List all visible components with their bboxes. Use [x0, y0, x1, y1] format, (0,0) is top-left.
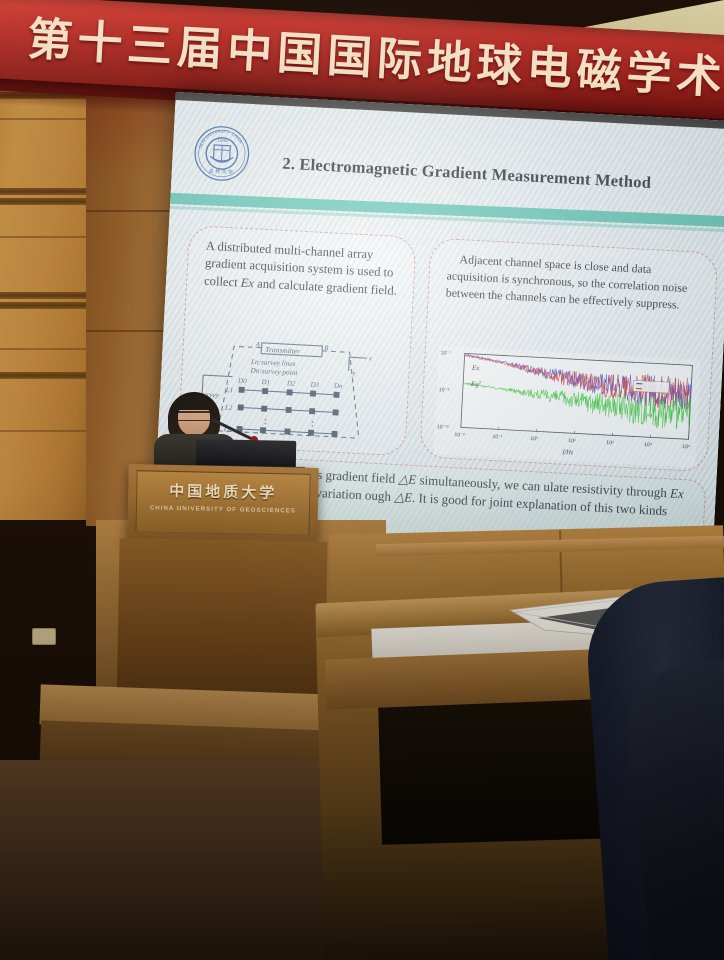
- jilin-university-logo-icon: 1946 吉 林 大 学 JILIN UNIVERSITY·CHINA: [191, 123, 252, 184]
- bot-l3-de: △E: [394, 489, 413, 505]
- chart-xtick: 10⁻¹: [492, 434, 503, 441]
- svg-text:B: B: [324, 345, 329, 352]
- bot-l1-de: △E: [398, 471, 417, 487]
- chart-xtick: 10²: [606, 440, 614, 446]
- chart-legend-box: [633, 380, 670, 393]
- left-callout-text: A distributed multi-channel array gradie…: [204, 238, 402, 300]
- chart-ytick: 10⁻⁷: [441, 350, 452, 357]
- glasses-icon: [178, 411, 210, 421]
- podium: 中国地质大学 CHINA UNIVERSITY OF GEOSCIENCES: [127, 464, 319, 546]
- chart-xtick: 10⁻²: [454, 432, 465, 439]
- slide-title: 2. Electromagnetic Gradient Measurement …: [282, 154, 702, 196]
- svg-text:D0: D0: [237, 378, 247, 386]
- svg-text:x: x: [368, 355, 372, 362]
- svg-text:Dn:survey point: Dn:survey point: [249, 367, 298, 378]
- svg-text:y: y: [351, 370, 356, 377]
- svg-text:D3: D3: [309, 382, 319, 390]
- chart-annot-ex: Ex: [471, 364, 481, 372]
- conference-photo: 第十三届中国国际地球电磁学术研讨会（CIGE 1946 吉 林 大 学: [0, 0, 724, 960]
- chart-ytick: 10⁻¹¹: [437, 424, 450, 431]
- svg-text:1946: 1946: [217, 138, 228, 144]
- svg-text:D2: D2: [286, 380, 296, 388]
- spectrum-chart: 10⁻²10⁻¹10⁰10¹10²10³10⁴10⁻⁷10⁻⁹10⁻¹¹ Ex …: [433, 346, 700, 468]
- chart-xtick: 10⁴: [682, 444, 690, 450]
- chart-xtick: 10³: [644, 442, 652, 448]
- bot-l3-p1: ough: [365, 488, 395, 505]
- wall-socket[interactable]: [32, 628, 56, 645]
- chart-xtick: 10¹: [568, 438, 576, 444]
- podium-name-en: CHINA UNIVERSITY OF GEOSCIENCES: [137, 505, 309, 515]
- left-text-ex: Ex: [240, 275, 254, 290]
- chart-xtick: 10⁰: [530, 436, 538, 442]
- svg-text:Dn: Dn: [333, 383, 343, 391]
- bot-l2-ex: Ex: [670, 485, 684, 501]
- svg-text:吉 林 大 学: 吉 林 大 学: [209, 168, 234, 176]
- svg-text:x: x: [478, 379, 481, 384]
- podium-nameplate: 中国地质大学 CHINA UNIVERSITY OF GEOSCIENCES: [135, 470, 310, 536]
- chart-ytick: 10⁻⁹: [439, 387, 450, 394]
- svg-text:Transmitter: Transmitter: [265, 345, 300, 356]
- podium-name-cn: 中国地质大学: [137, 479, 309, 504]
- svg-text:D1: D1: [260, 379, 270, 386]
- chart-xlabel: f/Hz: [562, 449, 574, 457]
